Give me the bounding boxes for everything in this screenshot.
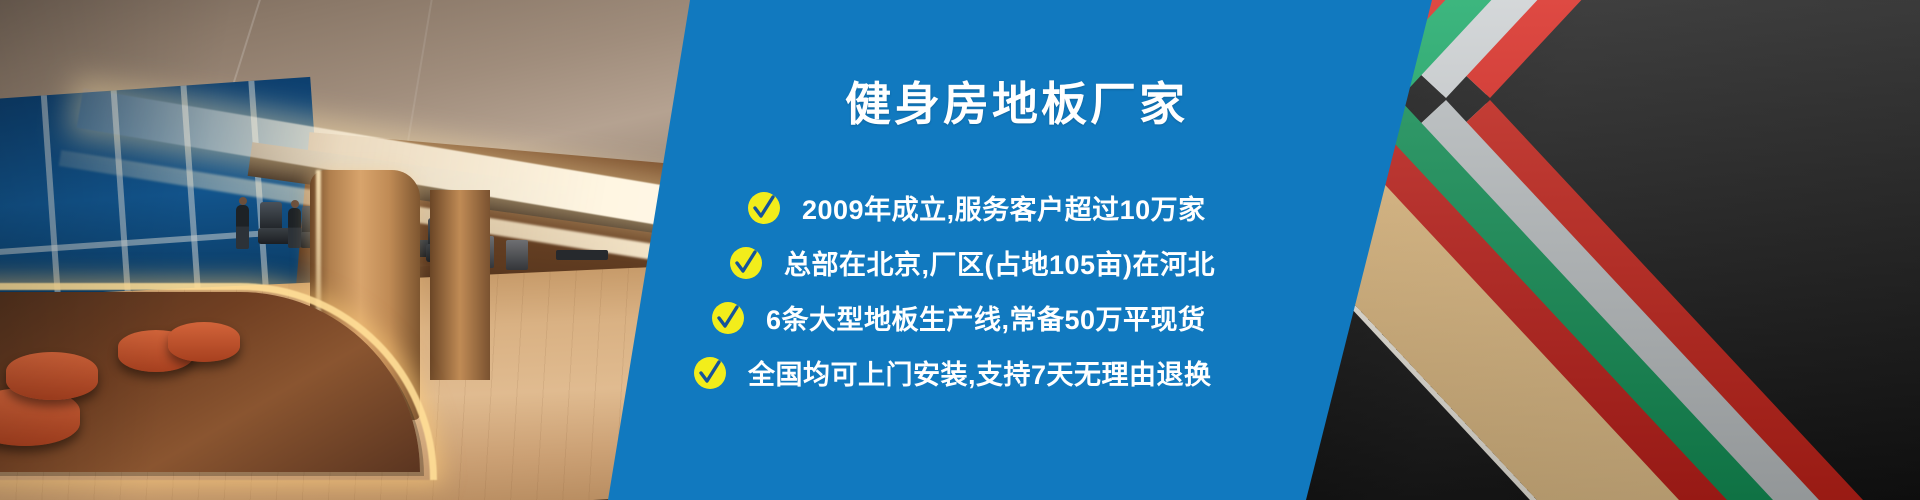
check-circle-icon	[712, 302, 744, 334]
feature-item-1: 2009年成立,服务客户超过10万家	[748, 188, 1206, 227]
feature-item-4: 全国均可上门安装,支持7天无理由退换	[694, 353, 1212, 392]
feature-text: 总部在北京,厂区(占地105亩)在河北	[784, 243, 1215, 282]
feature-text: 6条大型地板生产线,常备50万平现货	[766, 298, 1206, 337]
page-title: 健身房地板厂家	[845, 68, 1188, 134]
check-circle-icon	[730, 247, 762, 279]
promo-banner: 健身房地板厂家 2009年成立,服务客户超过10万家 总部在北京,厂区(占地10…	[0, 0, 1920, 500]
feature-text: 2009年成立,服务客户超过10万家	[802, 188, 1206, 227]
feature-item-3: 6条大型地板生产线,常备50万平现货	[712, 298, 1206, 337]
feature-item-2: 总部在北京,厂区(占地105亩)在河北	[730, 243, 1215, 282]
check-circle-icon	[694, 357, 726, 389]
feature-text: 全国均可上门安装,支持7天无理由退换	[748, 353, 1212, 392]
banner-content: 健身房地板厂家 2009年成立,服务客户超过10万家 总部在北京,厂区(占地10…	[0, 0, 1920, 500]
check-circle-icon	[748, 192, 780, 224]
